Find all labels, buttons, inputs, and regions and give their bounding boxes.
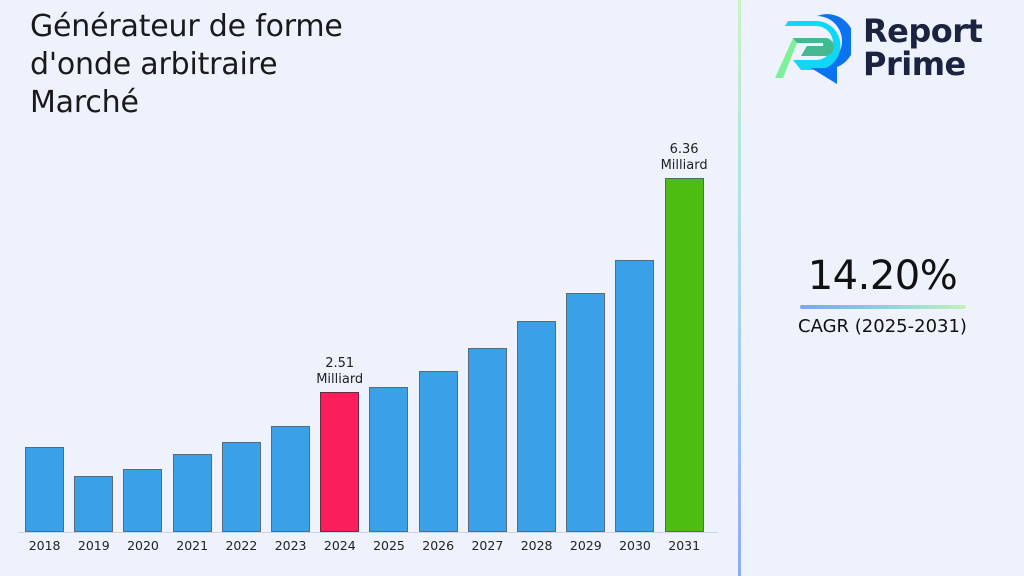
brand-wordmark-line2: Prime (863, 48, 982, 81)
bar-slot (168, 120, 217, 532)
bar-2022[interactable] (222, 442, 261, 532)
report-prime-r-logo-icon (771, 12, 851, 84)
bar-slot (266, 120, 315, 532)
bar-2031[interactable] (665, 178, 704, 532)
chart-panel: Générateur de forme d'onde arbitraire Ma… (0, 0, 738, 576)
bar-2018[interactable] (25, 447, 64, 532)
brand-logo: Report Prime (771, 12, 982, 84)
cagr-value: 14.20% (741, 252, 1024, 300)
x-tick-2029: 2029 (561, 538, 610, 553)
x-tick-2024: 2024 (315, 538, 364, 553)
bar-slot (364, 120, 413, 532)
bar-2020[interactable] (123, 469, 162, 532)
x-tick-2019: 2019 (69, 538, 118, 553)
bar-slot: 6.36 Milliard (660, 120, 709, 532)
bar-slot (217, 120, 266, 532)
x-tick-2022: 2022 (217, 538, 266, 553)
x-tick-2031: 2031 (660, 538, 709, 553)
x-tick-2018: 2018 (20, 538, 69, 553)
x-axis-line (18, 532, 718, 533)
cagr-caption: CAGR (2025-2031) (741, 315, 1024, 339)
bar-slot (414, 120, 463, 532)
x-tick-2023: 2023 (266, 538, 315, 553)
bar-2024[interactable] (320, 392, 359, 532)
x-tick-2028: 2028 (512, 538, 561, 553)
bar-2026[interactable] (419, 371, 458, 532)
bar-slot (69, 120, 118, 532)
bar-2027[interactable] (468, 348, 507, 532)
brand-wordmark: Report Prime (863, 15, 982, 81)
bar-slot (561, 120, 610, 532)
bar-chart: 2.51 Milliard6.36 Milliard 2018201920202… (0, 0, 738, 576)
bar-2030[interactable] (615, 260, 654, 532)
cagr-block: 14.20% CAGR (2025-2031) (741, 252, 1024, 339)
bar-slot: 2.51 Milliard (315, 120, 364, 532)
x-tick-2026: 2026 (414, 538, 463, 553)
bar-2023[interactable] (271, 426, 310, 532)
x-tick-2030: 2030 (610, 538, 659, 553)
bar-2025[interactable] (369, 387, 408, 532)
bar-2029[interactable] (566, 293, 605, 532)
bar-slot (463, 120, 512, 532)
bar-slot (512, 120, 561, 532)
bar-value-label-2024: 2.51 Milliard (307, 356, 372, 388)
cagr-divider (800, 305, 966, 309)
bar-slot (118, 120, 167, 532)
x-tick-2025: 2025 (364, 538, 413, 553)
bar-2028[interactable] (517, 321, 556, 533)
brand-panel: Report Prime 14.20% CAGR (2025-2031) (741, 0, 1024, 576)
slide-root: Générateur de forme d'onde arbitraire Ma… (0, 0, 1024, 576)
bar-slot (20, 120, 69, 532)
x-tick-2027: 2027 (463, 538, 512, 553)
bar-value-label-2031: 6.36 Milliard (652, 142, 717, 174)
bar-2021[interactable] (173, 454, 212, 532)
bar-slot (610, 120, 659, 532)
brand-wordmark-line1: Report (863, 15, 982, 48)
x-tick-2021: 2021 (168, 538, 217, 553)
x-tick-2020: 2020 (118, 538, 167, 553)
bar-2019[interactable] (74, 476, 113, 532)
